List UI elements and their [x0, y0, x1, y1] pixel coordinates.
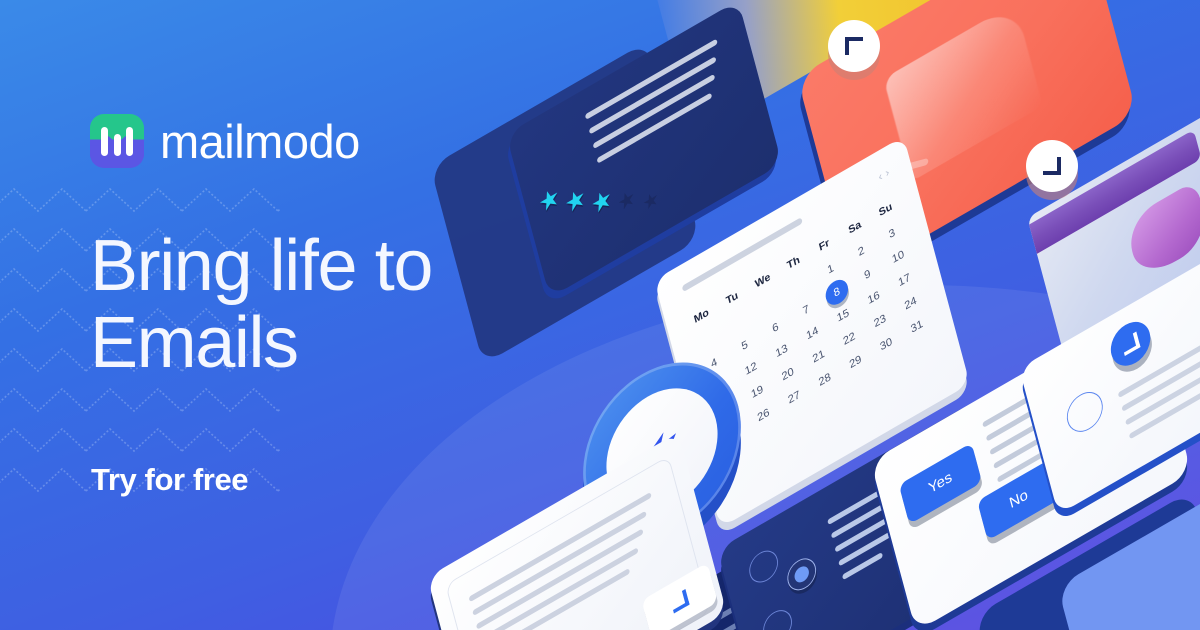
poll-option-2-selected[interactable] — [784, 553, 819, 597]
poll-option-3[interactable] — [760, 604, 795, 630]
document-card[interactable] — [427, 432, 727, 630]
star-icon-4: ★ — [616, 186, 638, 215]
star-icon-3: ★ — [589, 184, 615, 218]
yes-button[interactable]: Yes — [899, 443, 982, 525]
logo-bar-2 — [114, 134, 121, 156]
star-icon-5: ★ — [641, 188, 661, 214]
info-card-badge[interactable] — [1106, 314, 1154, 374]
cta-try-for-free[interactable]: Try for free — [91, 462, 248, 498]
corner-bracket-icon — [670, 589, 690, 613]
poll-option-1[interactable] — [746, 545, 781, 589]
brand-wordmark: mailmodo — [160, 118, 360, 165]
brand-lockup[interactable]: mailmodo — [90, 114, 360, 168]
corner-bracket-bottom-right-icon — [1043, 157, 1061, 175]
page-title: Bring life to Emails — [90, 228, 610, 382]
corner-bracket-top-left-icon — [845, 37, 863, 55]
coral-badge-bottom[interactable] — [1026, 140, 1078, 192]
coral-badge-top[interactable] — [828, 20, 880, 72]
mailmodo-logo-icon — [90, 114, 144, 168]
hero-banner: ★ ★ ★ ★ ★ ‹› MoTuWeThFrSaSu1234567891011… — [0, 0, 1200, 630]
info-card-circle-outline[interactable] — [1063, 385, 1107, 439]
star-icon-2: ★ — [562, 183, 588, 217]
logo-bar-3 — [126, 127, 133, 156]
rating-card-lines — [585, 39, 732, 173]
calendar-nav[interactable]: ‹› — [877, 163, 894, 183]
star-icon-1: ★ — [536, 183, 562, 217]
logo-bar-1 — [101, 127, 108, 156]
corner-bracket-icon — [1121, 332, 1141, 356]
